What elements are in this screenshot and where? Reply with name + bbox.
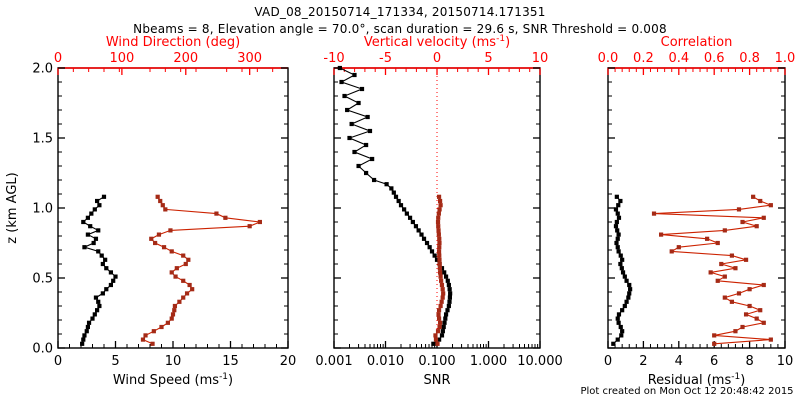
data-point-marker: [338, 66, 342, 70]
data-point-marker: [437, 241, 441, 245]
data-point-marker: [441, 291, 445, 295]
data-point-marker: [94, 296, 98, 300]
data-point-marker: [86, 216, 90, 220]
data-point-marker: [156, 195, 160, 199]
data-point-marker: [627, 291, 631, 295]
data-point-marker: [433, 333, 437, 337]
top-axis-tick-label: 1.0: [775, 51, 796, 66]
x-axis-tick-label: 2: [639, 354, 647, 369]
data-point-marker: [446, 279, 450, 283]
data-point-marker: [430, 249, 434, 253]
y-axis-tick-label: 0.0: [32, 342, 53, 357]
data-point-marker: [141, 338, 145, 342]
data-point-marker: [712, 342, 716, 346]
top-axis-tick-label: 200: [173, 51, 198, 66]
data-point-marker: [723, 275, 727, 279]
data-point-marker: [744, 312, 748, 316]
data-point-marker: [744, 258, 748, 262]
data-point-marker: [623, 275, 627, 279]
data-point-marker: [616, 338, 620, 342]
data-point-marker: [439, 275, 443, 279]
data-point-marker: [159, 325, 163, 329]
x-axis-tick-label: 5: [111, 354, 119, 369]
data-point-marker: [614, 241, 618, 245]
data-point-marker: [748, 287, 752, 291]
data-point-marker: [81, 338, 85, 342]
plot-canvas: z (km AGL)0.00.51.01.52.005101520Wind Sp…: [0, 0, 800, 400]
data-point-marker: [384, 182, 388, 186]
x-axis-tick-label: 4: [675, 354, 683, 369]
data-point-marker: [611, 342, 615, 346]
data-point-marker: [101, 291, 105, 295]
vad-profile-plot: VAD_08_20150714_171334, 20150714.171351 …: [0, 0, 800, 400]
data-point-marker: [425, 241, 429, 245]
data-point-marker: [370, 157, 374, 161]
data-point-marker: [414, 224, 418, 228]
data-point-marker: [185, 291, 189, 295]
x-axis-tick-label: 0.100: [418, 354, 455, 369]
data-point-marker: [368, 129, 372, 133]
y-axis-tick-label: 0.5: [32, 272, 53, 287]
data-point-marker: [364, 143, 368, 147]
bottom-axis-label: Residual (ms-1): [648, 372, 746, 388]
data-point-marker: [437, 195, 441, 199]
data-point-marker: [437, 317, 441, 321]
data-point-marker: [85, 329, 89, 333]
data-point-marker: [93, 312, 97, 316]
top-axis-tick-label: 0.4: [668, 51, 689, 66]
data-point-marker: [619, 325, 623, 329]
data-point-marker: [730, 254, 734, 258]
data-point-marker: [709, 270, 713, 274]
data-point-marker: [437, 254, 441, 258]
data-point-marker: [352, 73, 356, 77]
data-point-marker: [447, 304, 451, 308]
data-point-marker: [438, 199, 442, 203]
data-point-marker: [392, 191, 396, 195]
data-point-marker: [149, 237, 153, 241]
data-point-marker: [97, 304, 101, 308]
data-point-marker: [87, 321, 91, 325]
data-point-marker: [170, 270, 174, 274]
data-point-marker: [737, 291, 741, 295]
panel-residual: 0246810Residual (ms-1)0.00.20.40.60.81.0…: [598, 35, 796, 388]
data-point-marker: [438, 270, 442, 274]
data-point-marker: [438, 266, 442, 270]
x-axis-tick-label: 10: [777, 354, 794, 369]
y-axis-tick-label: 1.0: [32, 202, 53, 217]
data-point-marker: [419, 233, 423, 237]
data-point-marker: [442, 270, 446, 274]
top-axis-tick-label: 10: [532, 51, 549, 66]
data-point-marker: [177, 300, 181, 304]
data-point-marker: [737, 207, 741, 211]
data-point-marker: [86, 325, 90, 329]
data-point-marker: [615, 228, 619, 232]
data-point-marker: [181, 254, 185, 258]
top-axis-tick-label: 0.8: [739, 51, 760, 66]
data-point-marker: [82, 245, 86, 249]
data-point-marker: [96, 300, 100, 304]
data-point-marker: [82, 333, 86, 337]
data-point-marker: [439, 279, 443, 283]
data-point-marker: [143, 333, 147, 337]
data-point-marker: [95, 308, 99, 312]
data-point-marker: [163, 207, 167, 211]
data-point-marker: [616, 212, 620, 216]
data-point-marker: [755, 317, 759, 321]
data-point-marker: [623, 304, 627, 308]
data-point-marker: [161, 203, 165, 207]
data-point-marker: [755, 224, 759, 228]
data-point-marker: [352, 150, 356, 154]
data-point-marker: [356, 101, 360, 105]
data-point-marker: [350, 122, 354, 126]
data-point-marker: [620, 266, 624, 270]
data-point-marker: [448, 287, 452, 291]
data-point-marker: [109, 283, 113, 287]
data-point-marker: [437, 308, 441, 312]
data-point-marker: [188, 283, 192, 287]
data-point-marker: [615, 220, 619, 224]
data-point-marker: [617, 233, 621, 237]
data-point-marker: [730, 300, 734, 304]
data-point-marker: [150, 342, 154, 346]
data-point-marker: [448, 291, 452, 295]
data-point-marker: [616, 317, 620, 321]
data-point-marker: [158, 199, 162, 203]
data-point-marker: [614, 207, 618, 211]
data-point-marker: [435, 342, 439, 346]
data-point-marker: [620, 258, 624, 262]
data-point-marker: [439, 203, 443, 207]
data-point-marker: [408, 216, 412, 220]
top-axis-tick-label: -10: [323, 51, 344, 66]
x-axis-tick-label: 1.000: [470, 354, 507, 369]
y-axis-label: z (km AGL): [5, 172, 20, 243]
data-point-marker: [441, 296, 445, 300]
data-point-marker: [113, 275, 117, 279]
data-point-marker: [364, 171, 368, 175]
data-point-marker: [104, 266, 108, 270]
top-axis-tick-label: 0.6: [704, 51, 725, 66]
data-point-marker: [405, 212, 409, 216]
data-point-marker: [436, 216, 440, 220]
data-point-marker: [740, 220, 744, 224]
data-point-marker: [627, 283, 631, 287]
data-point-marker: [417, 228, 421, 232]
data-point-marker: [440, 300, 444, 304]
data-point-marker: [621, 270, 625, 274]
data-point-marker: [436, 220, 440, 224]
data-point-marker: [758, 308, 762, 312]
data-point-marker: [614, 224, 618, 228]
data-point-marker: [436, 312, 440, 316]
data-point-marker: [190, 287, 194, 291]
data-point-marker: [437, 325, 441, 329]
data-point-marker: [769, 203, 773, 207]
data-point-marker: [186, 258, 190, 262]
data-point-marker: [437, 207, 441, 211]
top-axis-tick-label: 0: [54, 51, 62, 66]
data-point-marker: [447, 283, 451, 287]
data-point-marker: [617, 312, 621, 316]
data-point-marker: [748, 304, 752, 308]
data-point-marker: [95, 199, 99, 203]
data-point-marker: [439, 304, 443, 308]
data-point-marker: [437, 245, 441, 249]
data-point-marker: [96, 249, 100, 253]
data-point-marker: [88, 224, 92, 228]
data-point-marker: [628, 287, 632, 291]
data-point-marker: [624, 300, 628, 304]
data-point-marker: [441, 329, 445, 333]
panel-frame: [608, 68, 785, 348]
data-point-marker: [170, 249, 174, 253]
data-point-marker: [389, 186, 393, 190]
data-point-marker: [173, 275, 177, 279]
data-point-marker: [433, 254, 437, 258]
data-point-marker: [402, 207, 406, 211]
top-axis-tick-label: 300: [237, 51, 262, 66]
data-point-marker: [677, 245, 681, 249]
data-point-marker: [342, 94, 346, 98]
data-point-marker: [153, 241, 157, 245]
data-point-marker: [422, 237, 426, 241]
top-axis-tick-label: 5: [484, 51, 492, 66]
data-point-marker: [170, 317, 174, 321]
data-point-marker: [438, 262, 442, 266]
y-axis-tick-label: 1.5: [32, 132, 53, 147]
x-axis-tick-label: 20: [280, 354, 297, 369]
data-point-marker: [90, 317, 94, 321]
data-point-marker: [394, 195, 398, 199]
data-point-marker: [617, 216, 621, 220]
data-point-marker: [214, 212, 218, 216]
data-point-marker: [751, 195, 755, 199]
top-axis-tick-label: 0: [433, 51, 441, 66]
top-axis-tick-label: 0.2: [633, 51, 654, 66]
data-point-marker: [762, 283, 766, 287]
data-point-marker: [96, 228, 100, 232]
data-point-marker: [705, 237, 709, 241]
data-point-marker: [168, 228, 172, 232]
data-point-marker: [162, 245, 166, 249]
data-point-marker: [366, 115, 370, 119]
data-point-marker: [81, 220, 85, 224]
data-point-marker: [347, 136, 351, 140]
data-point-marker: [719, 262, 723, 266]
data-point-marker: [740, 325, 744, 329]
x-axis-tick-label: 0: [604, 354, 612, 369]
data-point-marker: [399, 203, 403, 207]
data-point-marker: [443, 317, 447, 321]
data-point-marker: [103, 258, 107, 262]
data-point-marker: [619, 333, 623, 337]
data-point-marker: [437, 249, 441, 253]
data-point-marker: [652, 212, 656, 216]
top-axis-label: Correlation: [661, 35, 733, 50]
data-point-marker: [100, 254, 104, 258]
data-point-marker: [111, 279, 115, 283]
top-axis-tick-label: 0.0: [598, 51, 619, 66]
data-point-marker: [104, 287, 108, 291]
data-point-marker: [258, 220, 262, 224]
data-point-marker: [616, 237, 620, 241]
data-point-marker: [436, 224, 440, 228]
data-point-marker: [152, 329, 156, 333]
data-point-marker: [80, 342, 84, 346]
data-point-marker: [448, 296, 452, 300]
data-point-marker: [86, 233, 90, 237]
data-point-marker: [670, 249, 674, 253]
data-point-marker: [166, 321, 170, 325]
data-point-marker: [723, 296, 727, 300]
data-point-marker: [723, 228, 727, 232]
x-axis-tick-label: 10.000: [517, 354, 563, 369]
data-point-marker: [617, 249, 621, 253]
data-point-marker: [397, 199, 401, 203]
data-point-marker: [617, 321, 621, 325]
data-point-marker: [97, 203, 101, 207]
data-point-marker: [436, 329, 440, 333]
data-point-marker: [181, 279, 185, 283]
data-point-marker: [157, 233, 161, 237]
data-point-marker: [733, 266, 737, 270]
data-point-marker: [248, 224, 252, 228]
top-axis-label: Vertical velocity (ms-1): [364, 34, 510, 50]
data-point-marker: [444, 275, 448, 279]
data-point-marker: [733, 329, 737, 333]
data-point-marker: [716, 241, 720, 245]
data-point-marker: [620, 308, 624, 312]
data-point-marker: [442, 325, 446, 329]
data-point-marker: [171, 312, 175, 316]
bottom-axis-label: Wind Speed (ms-1): [113, 372, 233, 388]
data-point-marker: [441, 287, 445, 291]
data-point-marker: [620, 329, 624, 333]
x-axis-tick-label: 8: [745, 354, 753, 369]
data-point-marker: [615, 195, 619, 199]
data-point-marker: [101, 262, 105, 266]
x-axis-tick-label: 0.010: [367, 354, 404, 369]
data-point-marker: [445, 308, 449, 312]
data-point-marker: [437, 258, 441, 262]
data-point-marker: [440, 283, 444, 287]
x-axis-tick-label: 10: [165, 354, 182, 369]
data-point-marker: [360, 87, 364, 91]
x-axis-tick-label: 0.001: [315, 354, 352, 369]
data-point-marker: [762, 321, 766, 325]
data-point-marker: [109, 270, 113, 274]
data-point-marker: [411, 220, 415, 224]
series-line: [340, 68, 450, 344]
data-point-marker: [444, 312, 448, 316]
data-point-marker: [434, 338, 438, 342]
data-point-marker: [659, 233, 663, 237]
data-point-marker: [339, 80, 343, 84]
data-point-marker: [173, 304, 177, 308]
data-point-marker: [437, 212, 441, 216]
data-point-marker: [89, 212, 93, 216]
data-point-marker: [184, 262, 188, 266]
data-point-marker: [626, 296, 630, 300]
data-point-marker: [618, 262, 622, 266]
data-point-marker: [223, 216, 227, 220]
data-point-marker: [619, 254, 623, 258]
top-axis-tick-label: -5: [379, 51, 392, 66]
data-point-marker: [442, 321, 446, 325]
data-point-marker: [436, 228, 440, 232]
data-point-marker: [431, 342, 435, 346]
data-point-marker: [440, 333, 444, 337]
data-point-marker: [769, 338, 773, 342]
data-point-marker: [447, 300, 451, 304]
data-point-marker: [712, 333, 716, 337]
data-point-marker: [437, 237, 441, 241]
bottom-axis-label: SNR: [423, 373, 450, 388]
data-point-marker: [616, 203, 620, 207]
panel-snr: 0.0010.0100.1001.00010.000SNR-10-50510Ve…: [315, 34, 562, 388]
data-point-marker: [93, 207, 97, 211]
data-point-marker: [616, 245, 620, 249]
data-point-marker: [716, 279, 720, 283]
data-point-marker: [181, 296, 185, 300]
data-point-marker: [92, 241, 96, 245]
data-point-marker: [762, 216, 766, 220]
panel-wind: 05101520Wind Speed (ms-1)0100200300Wind …: [54, 35, 296, 388]
top-axis-label: Wind Direction (deg): [106, 35, 240, 50]
series-line: [143, 197, 260, 344]
data-point-marker: [437, 233, 441, 237]
x-axis-tick-label: 0: [54, 354, 62, 369]
x-axis-tick-label: 6: [710, 354, 718, 369]
data-point-marker: [345, 108, 349, 112]
top-axis-tick-label: 100: [109, 51, 134, 66]
data-point-marker: [356, 164, 360, 168]
data-point-marker: [758, 199, 762, 203]
data-point-marker: [624, 279, 628, 283]
data-point-marker: [428, 245, 432, 249]
x-axis-tick-label: 15: [222, 354, 239, 369]
y-axis-tick-label: 2.0: [32, 62, 53, 77]
data-point-marker: [438, 321, 442, 325]
data-point-marker: [372, 178, 376, 182]
data-point-marker: [172, 308, 176, 312]
data-point-marker: [618, 199, 622, 203]
data-point-marker: [102, 195, 106, 199]
data-point-marker: [175, 266, 179, 270]
data-point-marker: [94, 237, 98, 241]
